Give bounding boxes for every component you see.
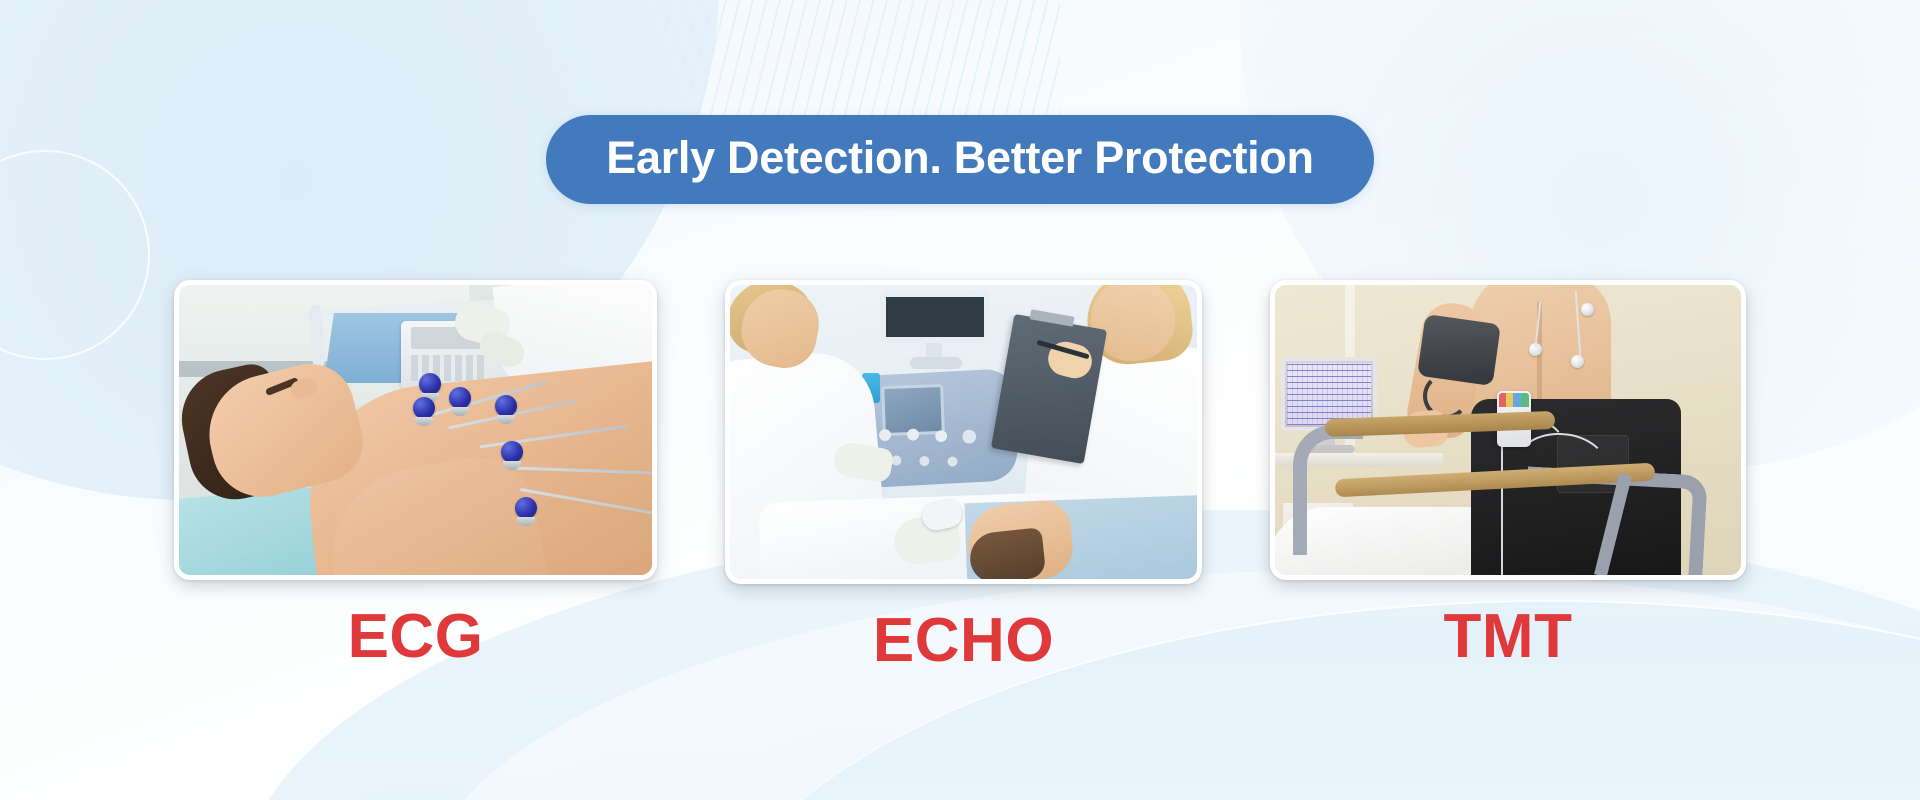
tmt-holter-indicator [1499, 393, 1529, 407]
headline-container: Early Detection. Better Protection [0, 115, 1920, 204]
photo-card-tmt [1270, 280, 1746, 580]
ecg-electrode [413, 397, 435, 419]
photo-card-echo [725, 280, 1202, 584]
ecg-scene [179, 285, 652, 575]
tmt-scene [1275, 285, 1741, 575]
tmt-blood-pressure-cuff [1417, 314, 1501, 386]
modality-cards-row: ECG [0, 280, 1920, 672]
echo-scene [730, 285, 1197, 579]
banner-root: Early Detection. Better Protection [0, 0, 1920, 800]
ecg-electrode [419, 373, 441, 395]
ecg-electrode [501, 441, 523, 463]
tmt-lead-wire [1501, 445, 1503, 575]
card-echo: ECHO [725, 280, 1202, 672]
card-label-ecg: ECG [348, 606, 484, 668]
headline-pill: Early Detection. Better Protection [546, 115, 1373, 204]
photo-card-ecg [174, 280, 657, 580]
background-streaks [300, 0, 1060, 120]
tmt-electrode [1581, 303, 1594, 316]
ecg-electrode [495, 395, 517, 417]
echo-display-monitor [880, 291, 990, 343]
tmt-ecg-trace [1287, 363, 1371, 425]
ecg-electrode [515, 497, 537, 519]
tmt-electrode [1571, 355, 1584, 368]
card-label-tmt: TMT [1444, 606, 1573, 668]
card-ecg: ECG [174, 280, 657, 668]
echo-monitor-base [910, 357, 962, 369]
card-label-echo: ECHO [873, 610, 1054, 672]
ecg-electrode [449, 387, 471, 409]
card-tmt: TMT [1270, 280, 1746, 668]
